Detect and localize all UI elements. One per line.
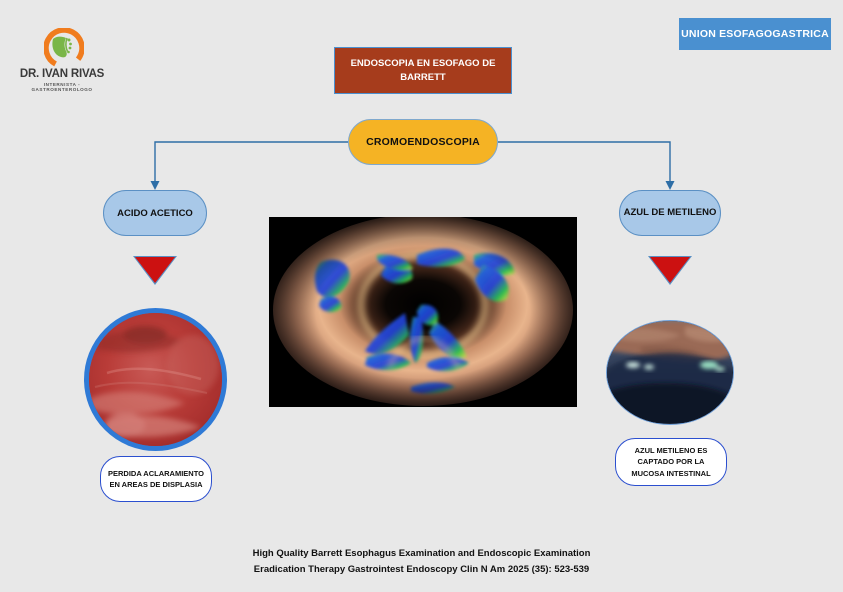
azul-metileno-endoscopy-image (606, 320, 734, 425)
acido-acetico-endoscopy-image (84, 308, 227, 451)
source-citation: High Quality Barrett Esophagus Examinati… (0, 546, 843, 577)
arrow-head-icon (666, 181, 675, 190)
chromoendoscopy-center-image (269, 217, 577, 407)
caption-text: PERDIDA ACLARAMIENTO EN AREAS DE DISPLAS… (107, 468, 205, 491)
flow-node-acido-acetico[interactable]: ACIDO ACETICO (103, 190, 207, 236)
caption-acido-acetico: PERDIDA ACLARAMIENTO EN AREAS DE DISPLAS… (100, 456, 212, 502)
flow-node-label: CROMOENDOSCOPIA (366, 136, 480, 148)
slide-canvas: DR. IVAN RIVAS INTERNISTA - GASTROENTERO… (0, 0, 843, 592)
badge-label: UNION ESOFAGOGASTRICA (681, 28, 829, 40)
flow-node-cromoendoscopia[interactable]: CROMOENDOSCOPIA (348, 119, 498, 165)
citation-line-1: High Quality Barrett Esophagus Examinati… (0, 546, 843, 562)
union-esofagogastrica-badge: UNION ESOFAGOGASTRICA (679, 18, 831, 50)
caption-azul-metileno: AZUL METILENO ES CAPTADO POR LA MUCOSA I… (615, 438, 727, 486)
citation-line-2: Eradication Therapy Gastrointest Endosco… (0, 562, 843, 578)
stomach-logo-icon (44, 28, 84, 68)
red-down-triangle-icon (648, 256, 692, 285)
logo-specialty: INTERNISTA - GASTROENTEROLOGO (14, 82, 110, 92)
flow-node-label: ACIDO ACETICO (117, 208, 193, 219)
flow-node-label: AZUL DE METILENO (624, 206, 717, 219)
caption-text: AZUL METILENO ES CAPTADO POR LA MUCOSA I… (622, 445, 720, 479)
red-down-triangle-icon (133, 256, 177, 285)
arrow-head-icon (151, 181, 160, 190)
flow-node-azul-de-metileno[interactable]: AZUL DE METILENO (619, 190, 721, 236)
slide-title-banner: ENDOSCOPIA EN ESOFAGO DE BARRETT (334, 47, 512, 94)
logo-doctor-name: DR. IVAN RIVAS (14, 68, 110, 80)
brand-logo: DR. IVAN RIVAS INTERNISTA - GASTROENTERO… (14, 28, 110, 96)
slide-title-text: ENDOSCOPIA EN ESOFAGO DE BARRETT (343, 57, 503, 85)
